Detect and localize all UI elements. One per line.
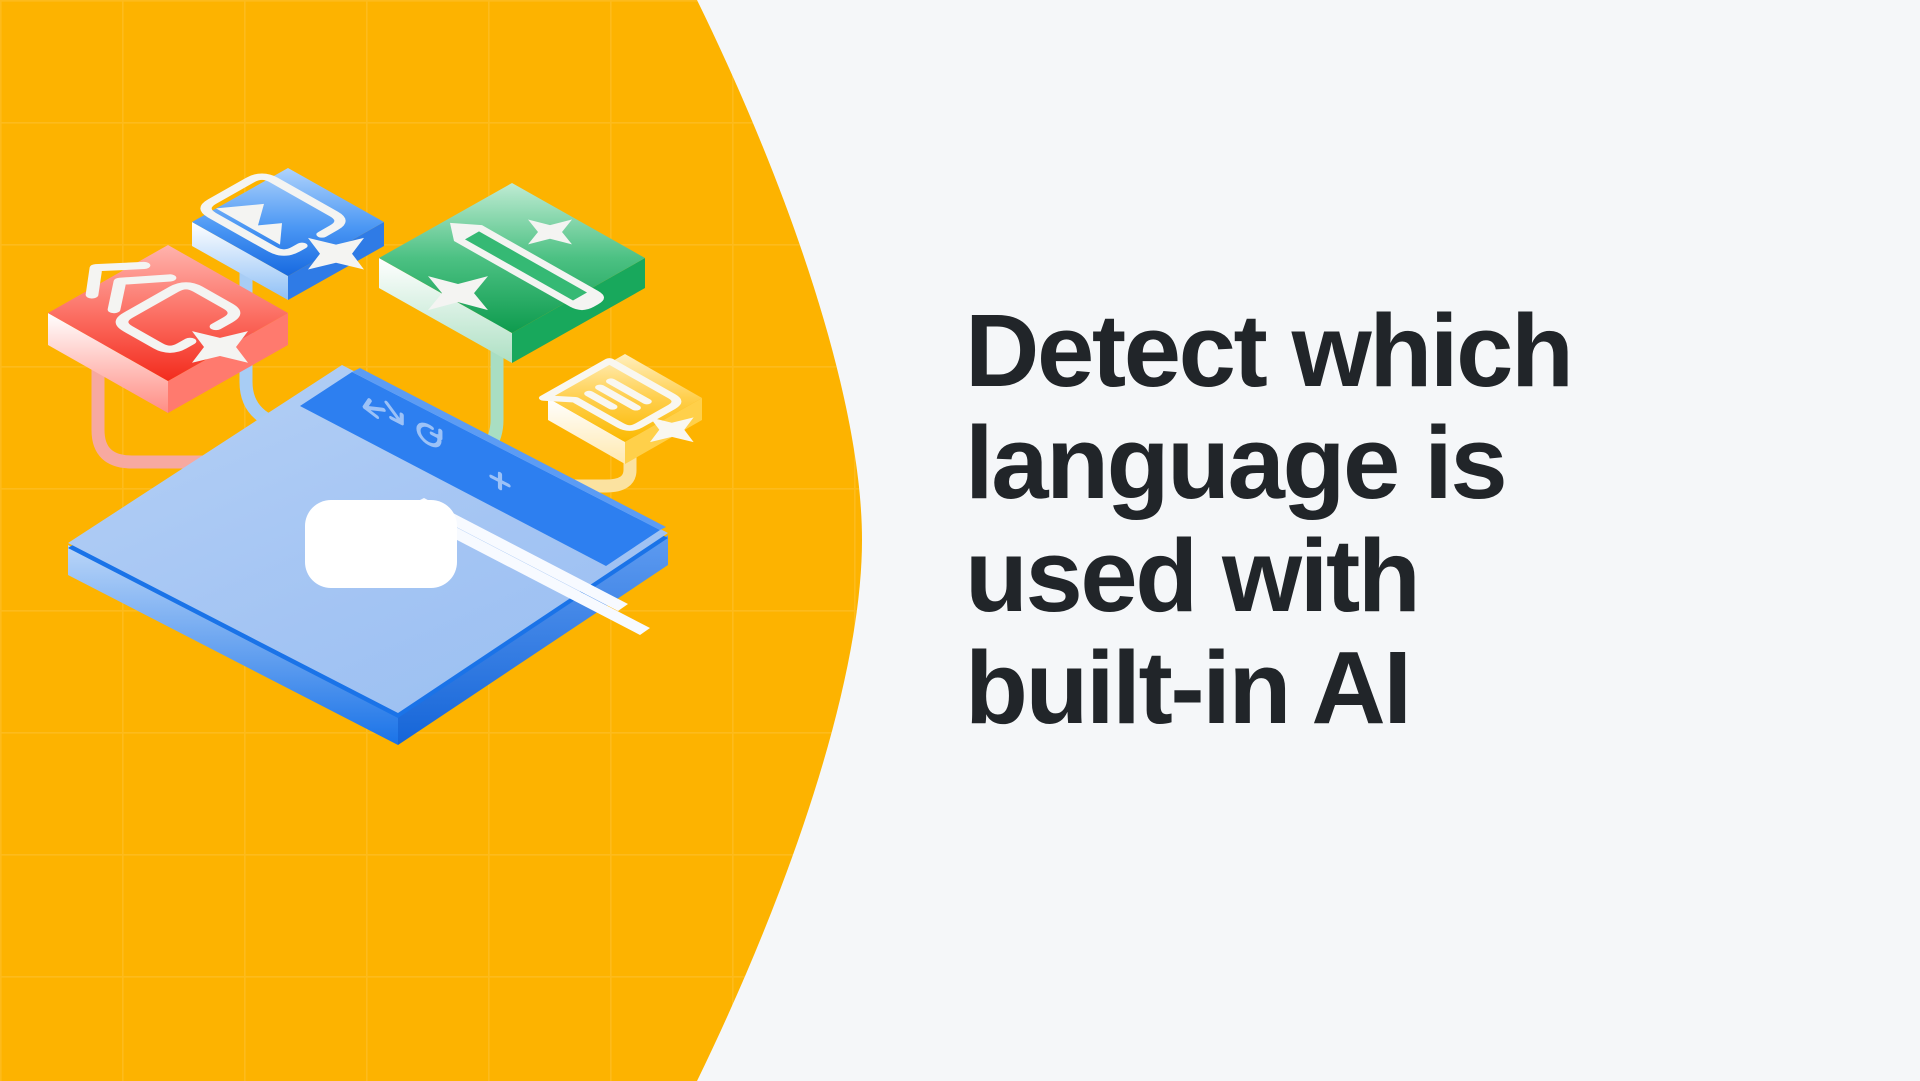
- headline-block: Detect which language is used with built…: [965, 295, 1805, 744]
- orange-background-panel: [0, 0, 900, 1081]
- hero-banner: Detect which language is used with built…: [0, 0, 1920, 1081]
- orange-fill: [0, 0, 900, 1081]
- page-title: Detect which language is used with built…: [965, 295, 1805, 744]
